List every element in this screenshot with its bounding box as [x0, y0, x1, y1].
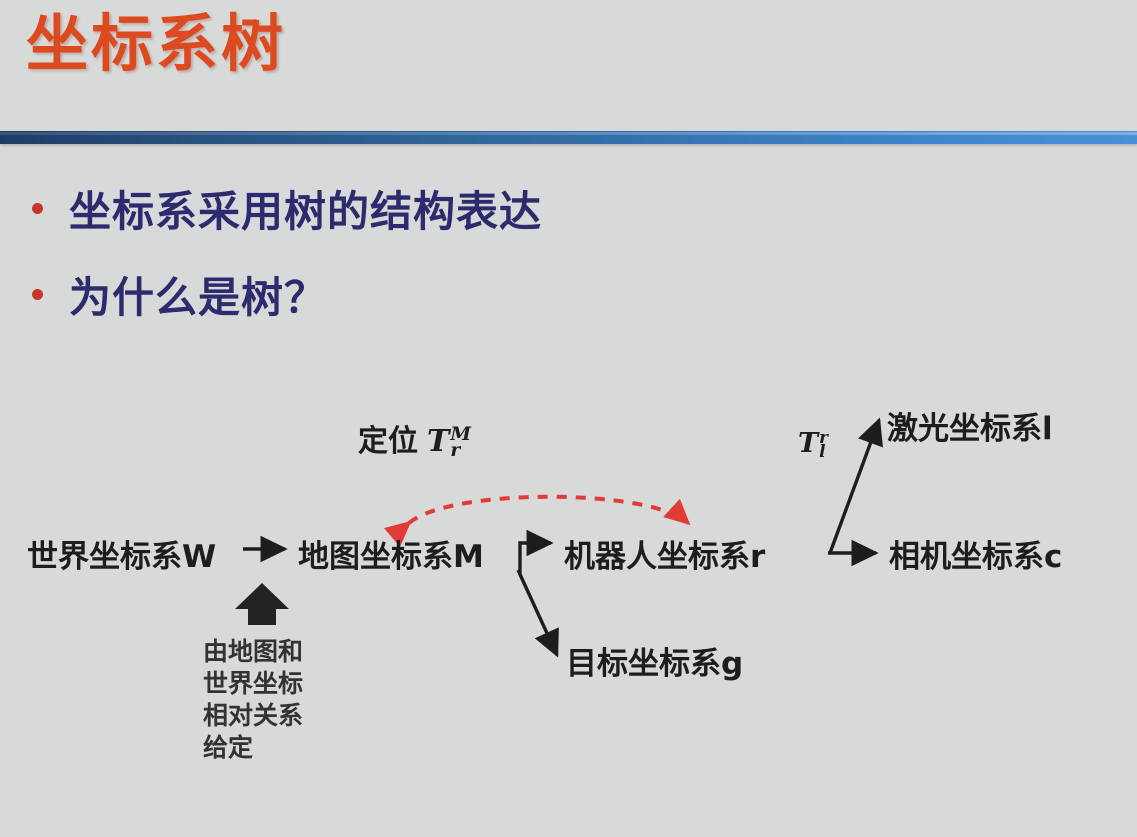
transform-indices: Mr [450, 426, 471, 459]
transform-base-symbol: T [427, 424, 449, 459]
node-camera-frame: 相机坐标系c [889, 531, 1062, 576]
coordinate-frame-tree-diagram: 世界坐标系W 地图坐标系M 机器人坐标系r 目标坐标系g 激光坐标系l 相机坐标… [0, 0, 1137, 837]
block-up-arrow-icon [235, 583, 289, 625]
arrow-robot-to-laser [830, 420, 879, 553]
map-world-relation-note: 由地图和 世界坐标 相对关系 给定 [203, 636, 303, 764]
arrow-map-to-goal [518, 570, 557, 655]
node-world-frame: 世界坐标系W [27, 531, 216, 576]
transform-indices: rl [819, 430, 828, 460]
transform-base-symbol: T [798, 428, 818, 459]
node-goal-frame: 目标坐标系g [566, 638, 743, 683]
node-laser-frame: 激光坐标系l [887, 403, 1053, 448]
localization-transform-label: 定位TMr [358, 416, 471, 460]
node-map-frame: 地图坐标系M [298, 531, 484, 576]
transform-subscript: r [450, 442, 471, 460]
transform-subscript: l [819, 444, 828, 460]
laser-transform-label: Trl [798, 428, 828, 459]
dashed-localization-arc [409, 497, 688, 523]
arrow-map-to-robot [520, 543, 551, 575]
node-robot-frame: 机器人坐标系r [564, 531, 765, 576]
slide-canvas: 坐标系树 坐标系采用树的结构表达 为什么是树？ [0, 0, 1137, 837]
localization-prefix-text: 定位 [358, 424, 418, 459]
